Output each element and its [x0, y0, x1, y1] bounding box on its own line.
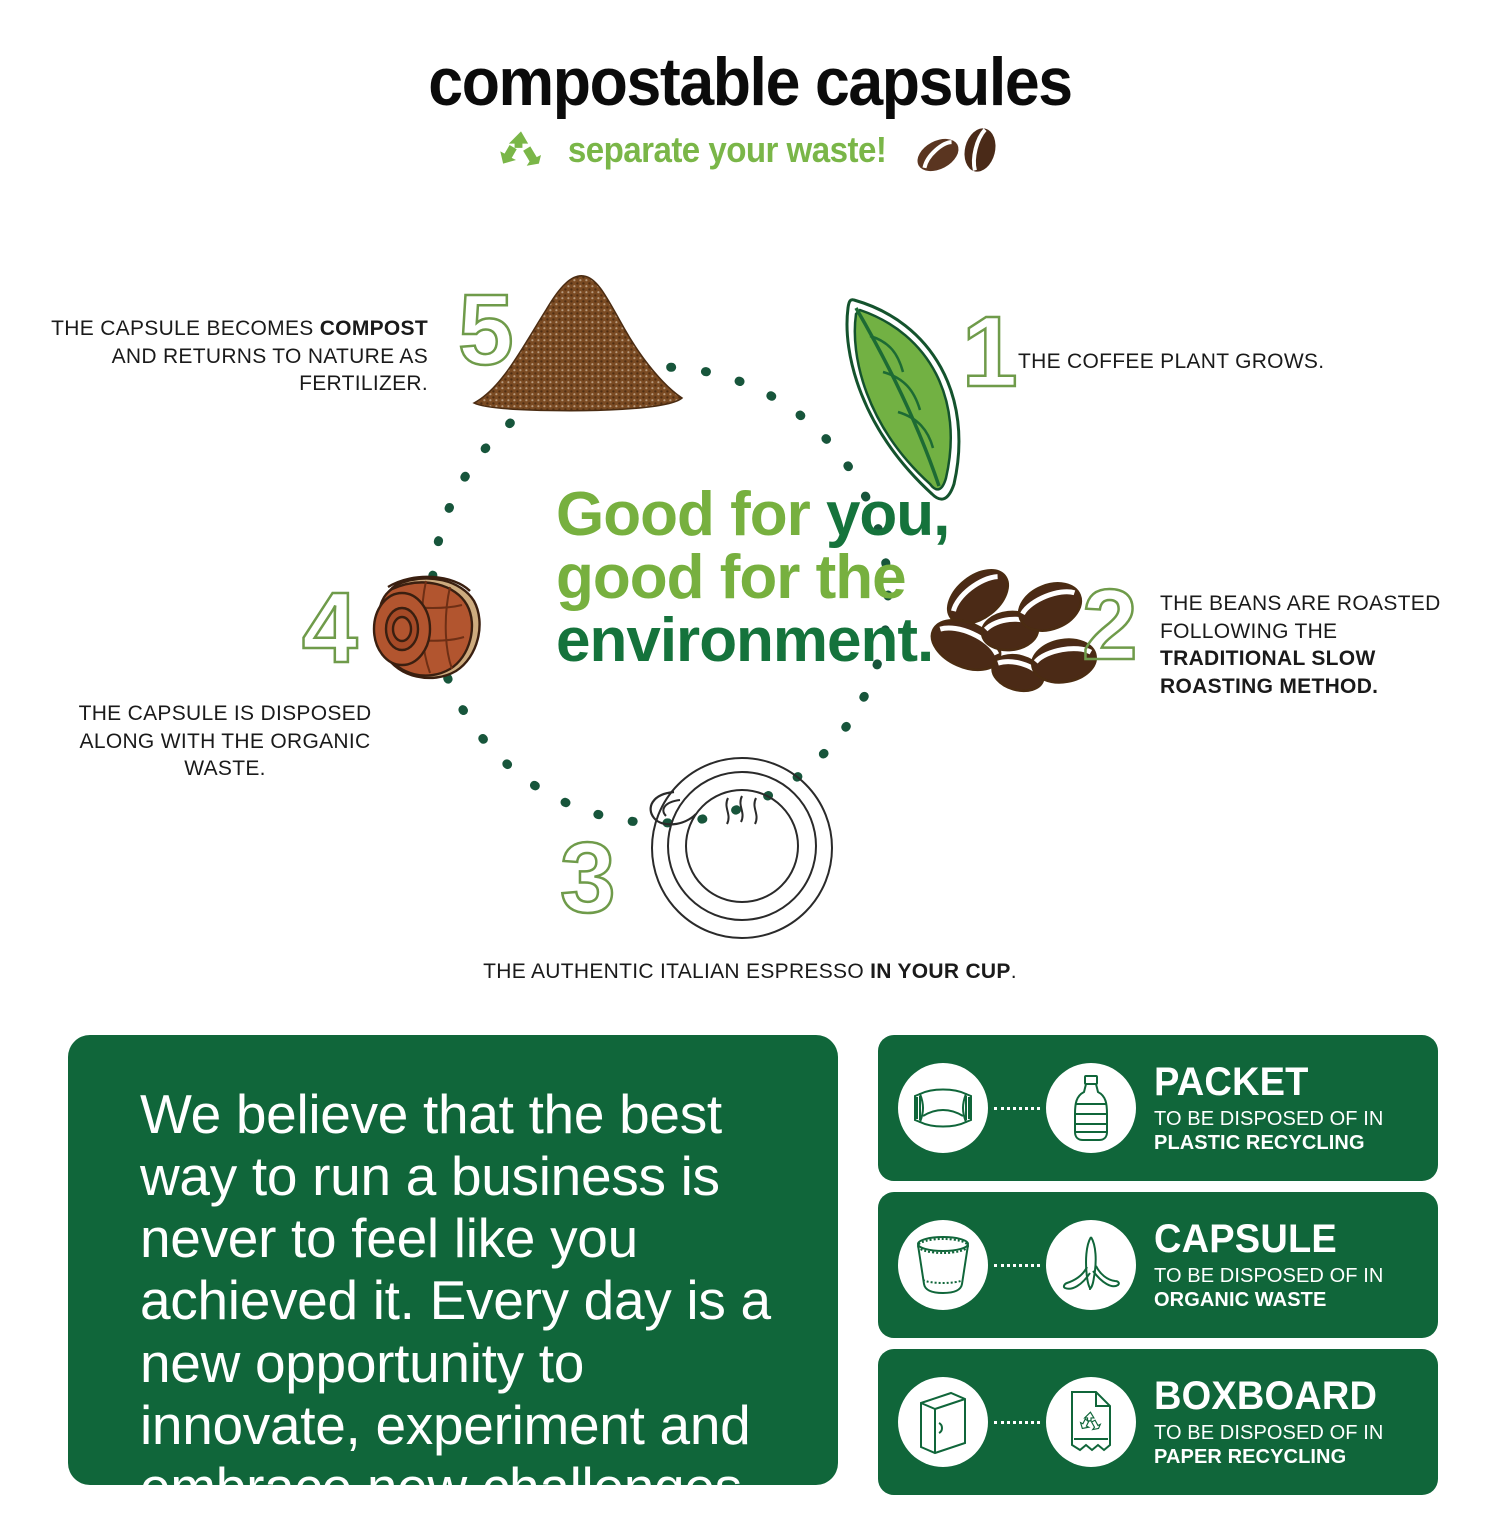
slogan-line-1: Good for you,	[556, 483, 956, 546]
disposal-card-desc: TO BE DISPOSED OF IN ORGANIC WASTE	[1154, 1264, 1383, 1312]
banana-peel-icon	[1046, 1220, 1136, 1310]
step-3-icon	[618, 752, 848, 947]
paper-recycle-icon	[1046, 1377, 1136, 1467]
step-3-text-pre: THE AUTHENTIC ITALIAN ESPRESSO	[483, 960, 870, 983]
step-5-number: 5	[458, 280, 514, 380]
step-2-text-bold: TRADITIONAL SLOW ROASTING METHOD.	[1160, 647, 1378, 698]
step-1-number: 1	[962, 302, 1018, 402]
disposal-card-icons	[898, 1063, 1136, 1153]
disposal-card-desc-bold: PAPER RECYCLING	[1154, 1446, 1346, 1468]
header-subtitle: separate your waste!	[568, 129, 886, 171]
disposal-card-body: PACKET TO BE DISPOSED OF IN PLASTIC RECY…	[1154, 1062, 1383, 1155]
quote-card: We believe that the best way to run a bu…	[68, 1035, 838, 1485]
disposal-card-boxboard[interactable]: BOXBOARD TO BE DISPOSED OF IN PAPER RECY…	[878, 1349, 1438, 1495]
step-3-text-bold: IN YOUR CUP	[870, 960, 1011, 983]
step-3-text-post: .	[1011, 960, 1017, 983]
slogan-line-1-light: Good for	[556, 480, 826, 549]
slogan-line-3: environment.	[556, 609, 956, 672]
box-icon	[898, 1377, 988, 1467]
disposal-card-icons	[898, 1220, 1136, 1310]
dotted-connector	[994, 1421, 1040, 1424]
coffee-capsule-icon	[898, 1220, 988, 1310]
disposal-card-desc-pre: TO BE DISPOSED OF IN	[1154, 1422, 1383, 1444]
step-4-text-pre: THE CAPSULE IS DISPOSED ALONG WITH THE O…	[79, 702, 372, 780]
step-5-text-pre: THE CAPSULE BECOMES	[51, 317, 320, 340]
disposal-card-desc-pre: TO BE DISPOSED OF IN	[1154, 1265, 1383, 1287]
recycle-icon	[498, 130, 544, 170]
plastic-bottle-icon	[1046, 1063, 1136, 1153]
coffee-packet-icon	[898, 1063, 988, 1153]
page-title: compostable capsules	[60, 48, 1440, 116]
step-5-text-post: AND RETURNS TO NATURE AS FERTILIZER.	[112, 345, 428, 396]
disposal-card-capsule[interactable]: CAPSULE TO BE DISPOSED OF IN ORGANIC WAS…	[878, 1192, 1438, 1338]
coffee-beans-icon	[910, 122, 1002, 178]
disposal-card-desc-bold: PLASTIC RECYCLING	[1154, 1132, 1365, 1154]
disposal-card-icons	[898, 1377, 1136, 1467]
center-slogan: Good for you, good for the environment.	[556, 483, 956, 673]
disposal-card-desc-pre: TO BE DISPOSED OF IN	[1154, 1108, 1383, 1130]
disposal-card-desc: TO BE DISPOSED OF IN PLASTIC RECYCLING	[1154, 1107, 1383, 1155]
step-3-number: 3	[560, 828, 616, 928]
dotted-connector	[994, 1264, 1040, 1267]
disposal-card-title: BOXBOARD	[1154, 1376, 1424, 1416]
step-2-text-pre: THE BEANS ARE ROASTED FOLLOWING THE	[1160, 592, 1441, 643]
step-5-text: THE CAPSULE BECOMES COMPOST AND RETURNS …	[28, 315, 428, 398]
step-5-text-bold: COMPOST	[320, 317, 428, 340]
disposal-card-body: CAPSULE TO BE DISPOSED OF IN ORGANIC WAS…	[1154, 1219, 1383, 1312]
disposal-card-desc: TO BE DISPOSED OF IN PAPER RECYCLING	[1154, 1421, 1438, 1469]
disposal-card-title: PACKET	[1154, 1062, 1372, 1102]
slogan-line-2: good for the	[556, 546, 956, 609]
step-2-text: THE BEANS ARE ROASTED FOLLOWING THE TRAD…	[1160, 590, 1480, 701]
disposal-card-packet[interactable]: PACKET TO BE DISPOSED OF IN PLASTIC RECY…	[878, 1035, 1438, 1181]
step-1-text-pre: THE COFFEE PLANT GROWS.	[1018, 350, 1324, 373]
dotted-connector	[994, 1107, 1040, 1110]
disposal-card-body: BOXBOARD TO BE DISPOSED OF IN PAPER RECY…	[1154, 1376, 1438, 1469]
step-4-text: THE CAPSULE IS DISPOSED ALONG WITH THE O…	[40, 700, 410, 783]
step-3-text: THE AUTHENTIC ITALIAN ESPRESSO IN YOUR C…	[440, 958, 1060, 986]
quote-text: We believe that the best way to run a bu…	[140, 1083, 780, 1518]
step-1-text: THE COFFEE PLANT GROWS.	[1018, 348, 1348, 376]
disposal-card-desc-bold: ORGANIC WASTE	[1154, 1289, 1326, 1311]
step-2-number: 2	[1082, 575, 1138, 675]
step-4-icon	[358, 565, 488, 695]
lifecycle-diagram: 5 THE CAPSULE BECOMES COMPOST AND RETURN…	[0, 230, 1500, 1010]
disposal-card-title: CAPSULE	[1154, 1219, 1372, 1259]
header: compostable capsules separate your waste…	[0, 48, 1500, 178]
header-subtitle-row: separate your waste!	[0, 122, 1500, 178]
step-4-number: 4	[302, 578, 358, 678]
slogan-line-1-dark: you,	[826, 480, 949, 549]
